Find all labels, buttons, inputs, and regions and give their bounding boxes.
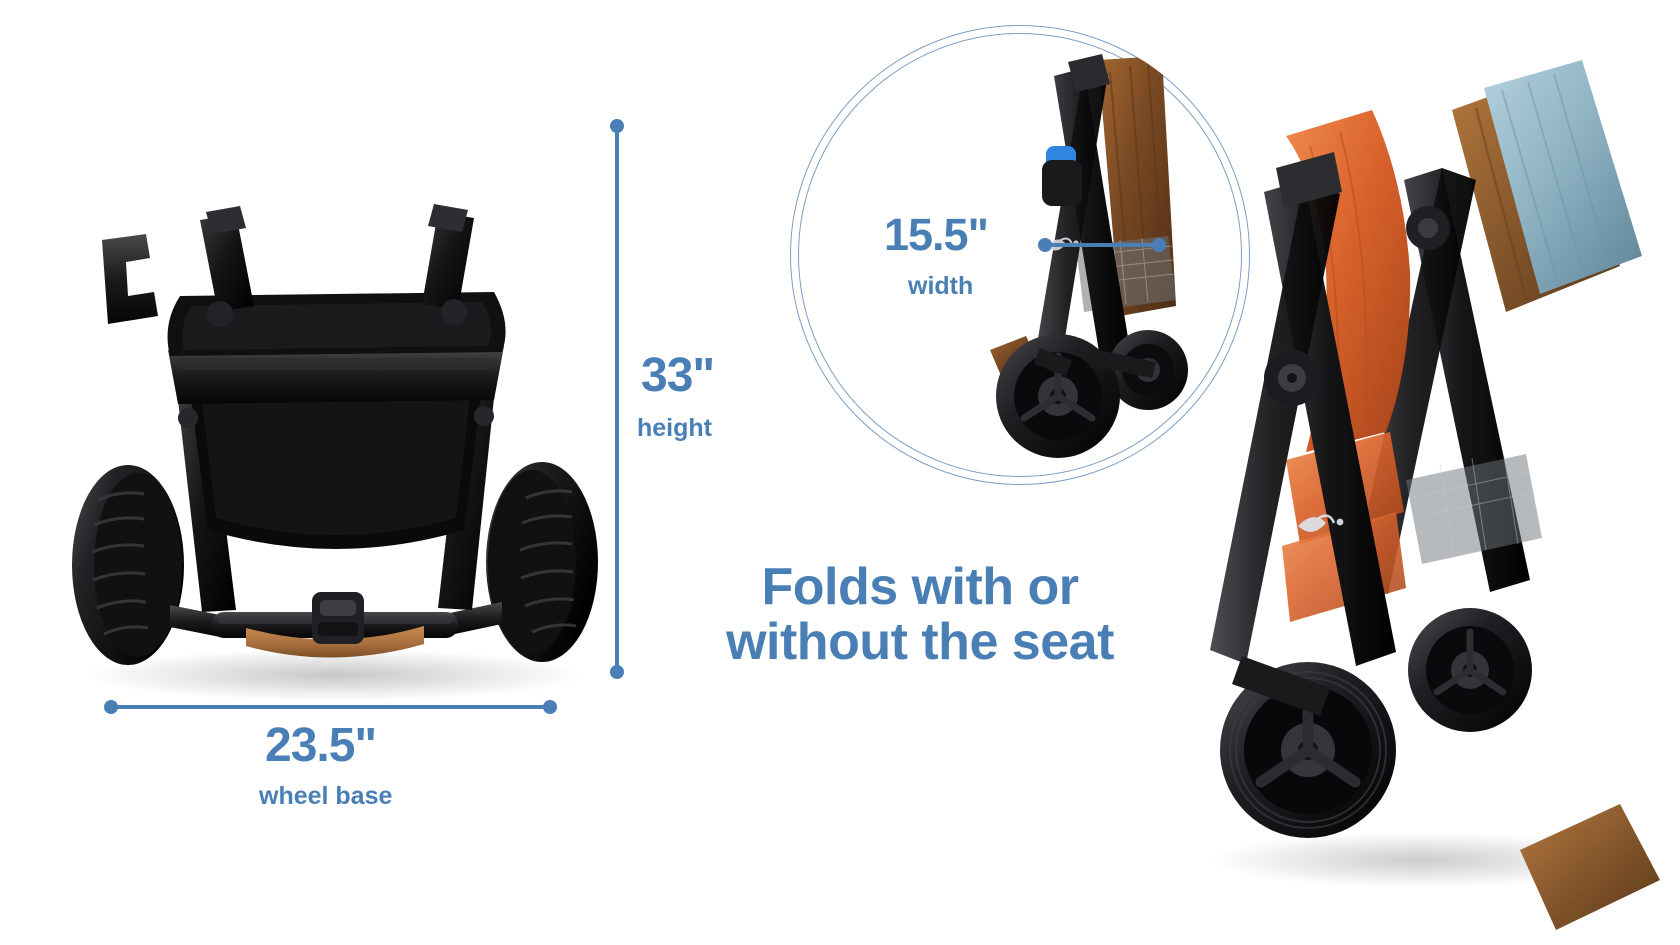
wheel-base-measure-value: 23.5" [265,722,376,770]
height-measure-value: 33" [641,352,714,400]
folded-stroller-orange [1210,110,1410,838]
frame-hook [102,234,158,324]
wheel-base-measure-line [112,705,552,709]
folded-strollers-photo [1190,60,1680,945]
width-measure-dot-right [1152,238,1166,252]
height-measure-label: height [637,416,712,441]
wheel-base-measure-dot-left [104,700,118,714]
blue-stroller-wheel [1408,608,1532,732]
width-measure-value: 15.5" [884,212,988,257]
infographic-canvas: 33" height 23.5" wheel base [0,0,1680,945]
height-measure-dot-top [610,119,624,133]
width-measure-label: width [908,274,973,299]
wheel-base-measure-label: wheel base [259,784,392,809]
width-measure-dot-left [1038,238,1052,252]
wheel-base-measure-dot-right [543,700,557,714]
width-measure-line [1050,243,1165,247]
